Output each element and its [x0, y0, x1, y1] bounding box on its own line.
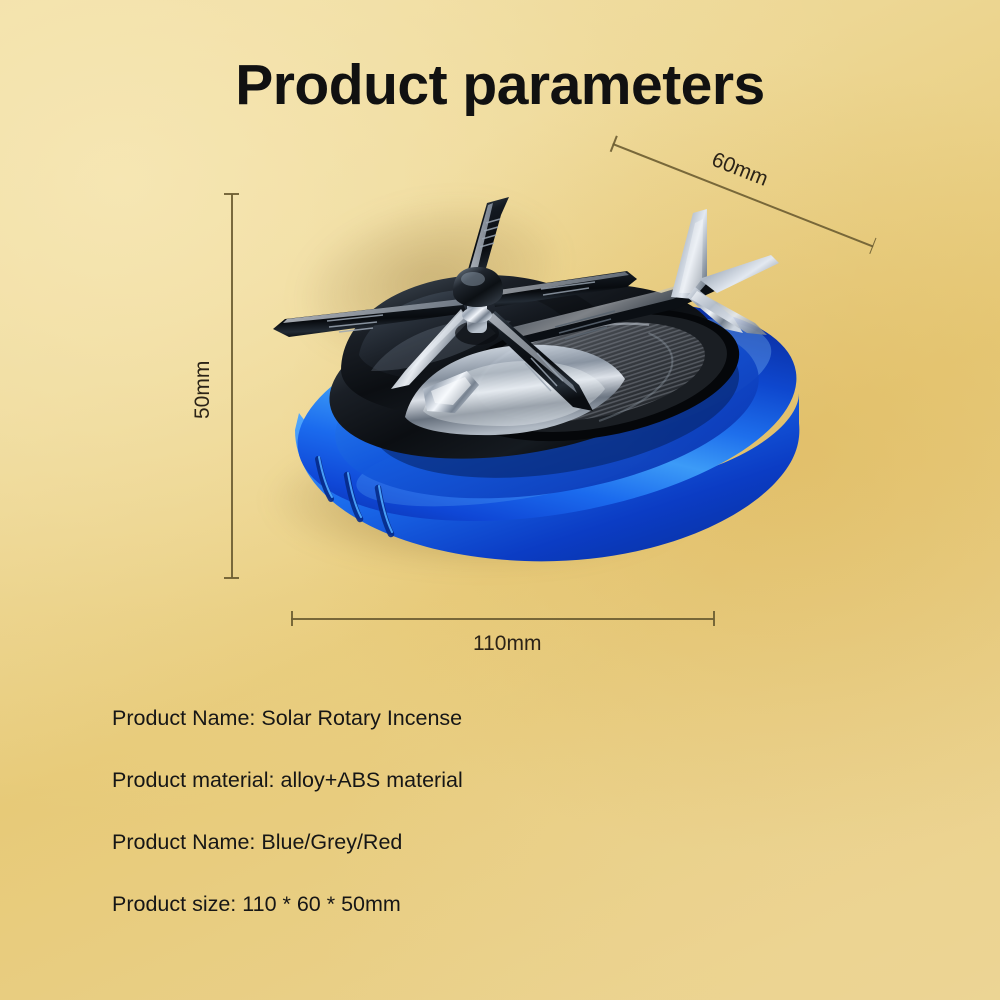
page-title: Product parameters [0, 52, 1000, 118]
dimension-line-height [231, 194, 233, 578]
dimension-tick-width-left [291, 611, 293, 626]
dimension-label-width: 110mm [473, 632, 541, 656]
product-svg [255, 175, 895, 575]
spec-product-name: Product Name: Solar Rotary Incense [112, 706, 872, 731]
spec-product-colors: Product Name: Blue/Grey/Red [112, 830, 872, 855]
product-image-helicopter-air-freshener [255, 175, 895, 575]
dimension-label-height: 50mm [191, 361, 215, 419]
spec-product-size: Product size: 110 * 60 * 50mm [112, 892, 872, 917]
dimension-tick-height-top [224, 193, 239, 195]
dimension-tick-height-bottom [224, 577, 239, 579]
spec-product-material: Product material: alloy+ABS material [112, 768, 872, 793]
dimension-tick-width-right [713, 611, 715, 626]
product-parameters-page: Product parameters [0, 0, 1000, 1000]
dimension-line-width [291, 618, 714, 620]
product-spec-list: Product Name: Solar Rotary Incense Produ… [112, 706, 872, 917]
